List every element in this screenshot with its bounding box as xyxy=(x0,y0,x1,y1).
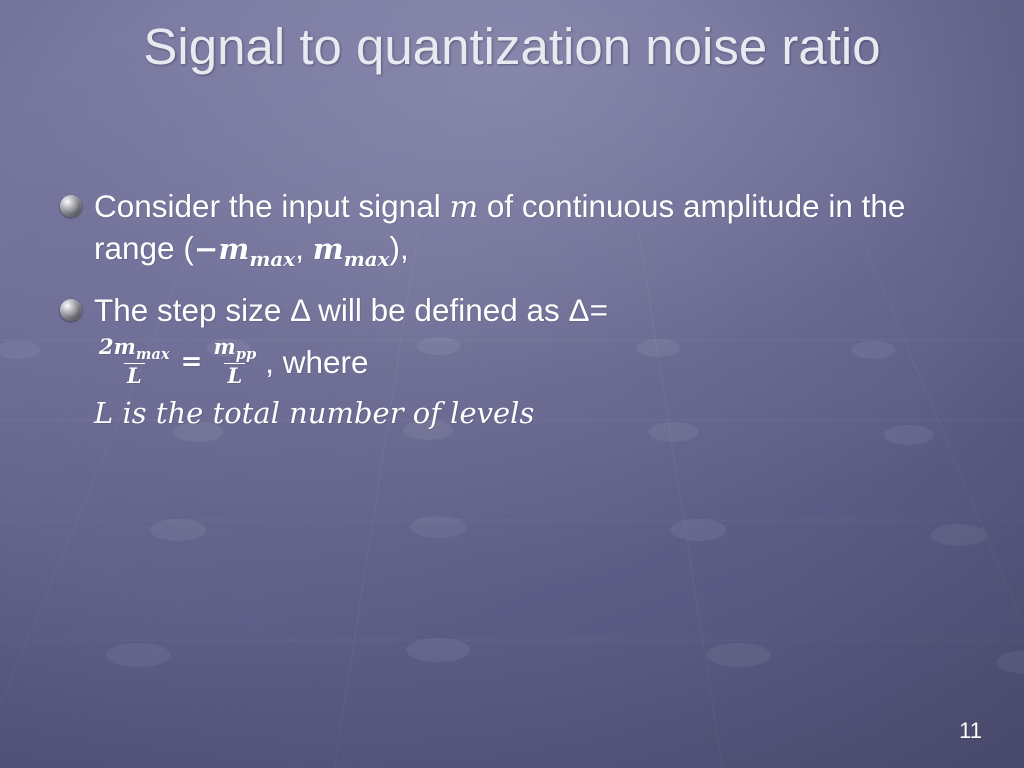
fraction-denominator: L xyxy=(224,363,245,388)
bullet-text-part: ), xyxy=(390,230,409,266)
sphere-bullet-icon xyxy=(60,299,82,321)
bullet-lead-text: The step size Δ will be defined as Δ= xyxy=(94,290,608,330)
bullet-text-part: Consider the input signal xyxy=(94,188,449,224)
equals-sign: = xyxy=(181,348,203,377)
slide: Signal to quantization noise ratio Consi… xyxy=(0,0,1024,768)
bullet-text-part: , xyxy=(295,230,313,266)
page-number: 11 xyxy=(959,718,982,744)
equation-trailing-text: , where xyxy=(265,345,368,380)
bullet-item: The step size Δ will be defined as Δ= 2m… xyxy=(60,290,980,429)
slide-body: Consider the input signal m of continuou… xyxy=(60,186,980,436)
bullet-text: Consider the input signal m of continuou… xyxy=(94,186,980,272)
fraction-numerator: mpp xyxy=(210,336,259,363)
math-variable-m: m xyxy=(449,190,478,225)
levels-note: L is the total number of levels xyxy=(94,396,608,430)
sphere-bullet-icon xyxy=(60,195,82,217)
fraction-mpp-over-L: mpp L xyxy=(210,336,259,387)
slide-title: Signal to quantization noise ratio xyxy=(60,18,964,75)
fraction-numerator: 2mmax xyxy=(96,336,173,363)
math-m-max: mmax xyxy=(313,231,390,266)
bullet-content: The step size Δ will be defined as Δ= 2m… xyxy=(94,290,608,429)
bullet-item: Consider the input signal m of continuou… xyxy=(60,186,980,272)
fraction-denominator: L xyxy=(124,363,145,388)
fraction-2mmax-over-L: 2mmax L xyxy=(96,336,173,387)
math-neg-m-max: −mmax xyxy=(194,231,295,266)
step-size-equation: 2mmax L = mpp L , where xyxy=(94,336,608,387)
